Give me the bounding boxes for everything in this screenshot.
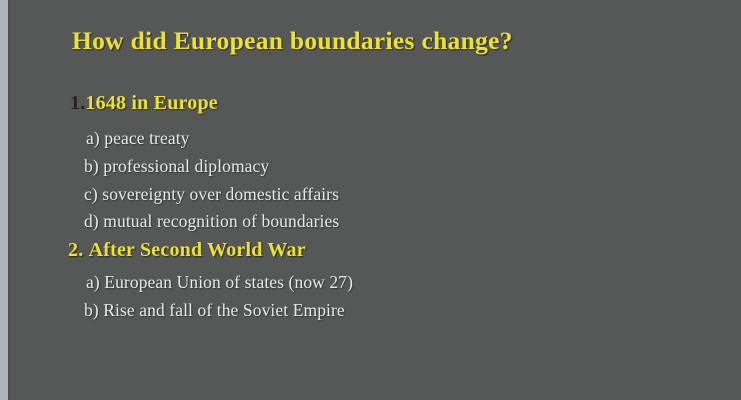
outline-item-2-sub-b-label: Rise and fall of the Soviet Empire xyxy=(103,300,345,320)
outline-item-2: 2. After Second World War xyxy=(68,239,306,262)
outline-item-1-label: 1648 in Europe xyxy=(85,92,217,114)
outline-item-2-sub-b-marker: b) xyxy=(84,300,99,320)
slide-title: How did European boundaries change? xyxy=(72,26,513,56)
outline-item-2-sub-a: a) European Union of states (now 27) xyxy=(86,272,353,293)
outline-item-2-marker: 2. xyxy=(68,239,83,261)
outline-item-1-sub-b-marker: b) xyxy=(84,156,99,176)
outline-item-1-sub-b-label: professional diplomacy xyxy=(103,156,269,176)
outline-item-2-sub-a-marker: a) xyxy=(86,272,100,292)
outline-item-1-sub-c-label: sovereignty over domestic affairs xyxy=(102,184,339,204)
outline-item-1-sub-a: a) peace treaty xyxy=(86,128,190,149)
outline-item-1-sub-c: c) sovereignty over domestic affairs xyxy=(84,184,339,205)
outline-item-2-sub-b: b) Rise and fall of the Soviet Empire xyxy=(84,300,345,321)
outline-item-1-sub-b: b) professional diplomacy xyxy=(84,156,269,177)
presentation-slide: How did European boundaries change? 1.16… xyxy=(0,0,741,400)
outline-item-2-label: After Second World War xyxy=(89,239,306,261)
outline-item-2-sub-a-label: European Union of states (now 27) xyxy=(104,272,353,292)
outline-item-1-sub-a-marker: a) xyxy=(86,128,100,148)
outline-item-1-sub-d-marker: d) xyxy=(84,211,99,231)
outline-item-1-sub-d-label: mutual recognition of boundaries xyxy=(103,211,339,231)
slide-content: How did European boundaries change? 1.16… xyxy=(0,0,741,400)
outline-item-1-sub-d: d) mutual recognition of boundaries xyxy=(84,211,339,232)
outline-item-1-marker: 1. xyxy=(70,92,85,114)
outline-item-1: 1.1648 in Europe xyxy=(70,92,218,115)
outline-item-1-sub-c-marker: c) xyxy=(84,184,98,204)
outline-item-1-sub-a-label: peace treaty xyxy=(104,128,189,148)
